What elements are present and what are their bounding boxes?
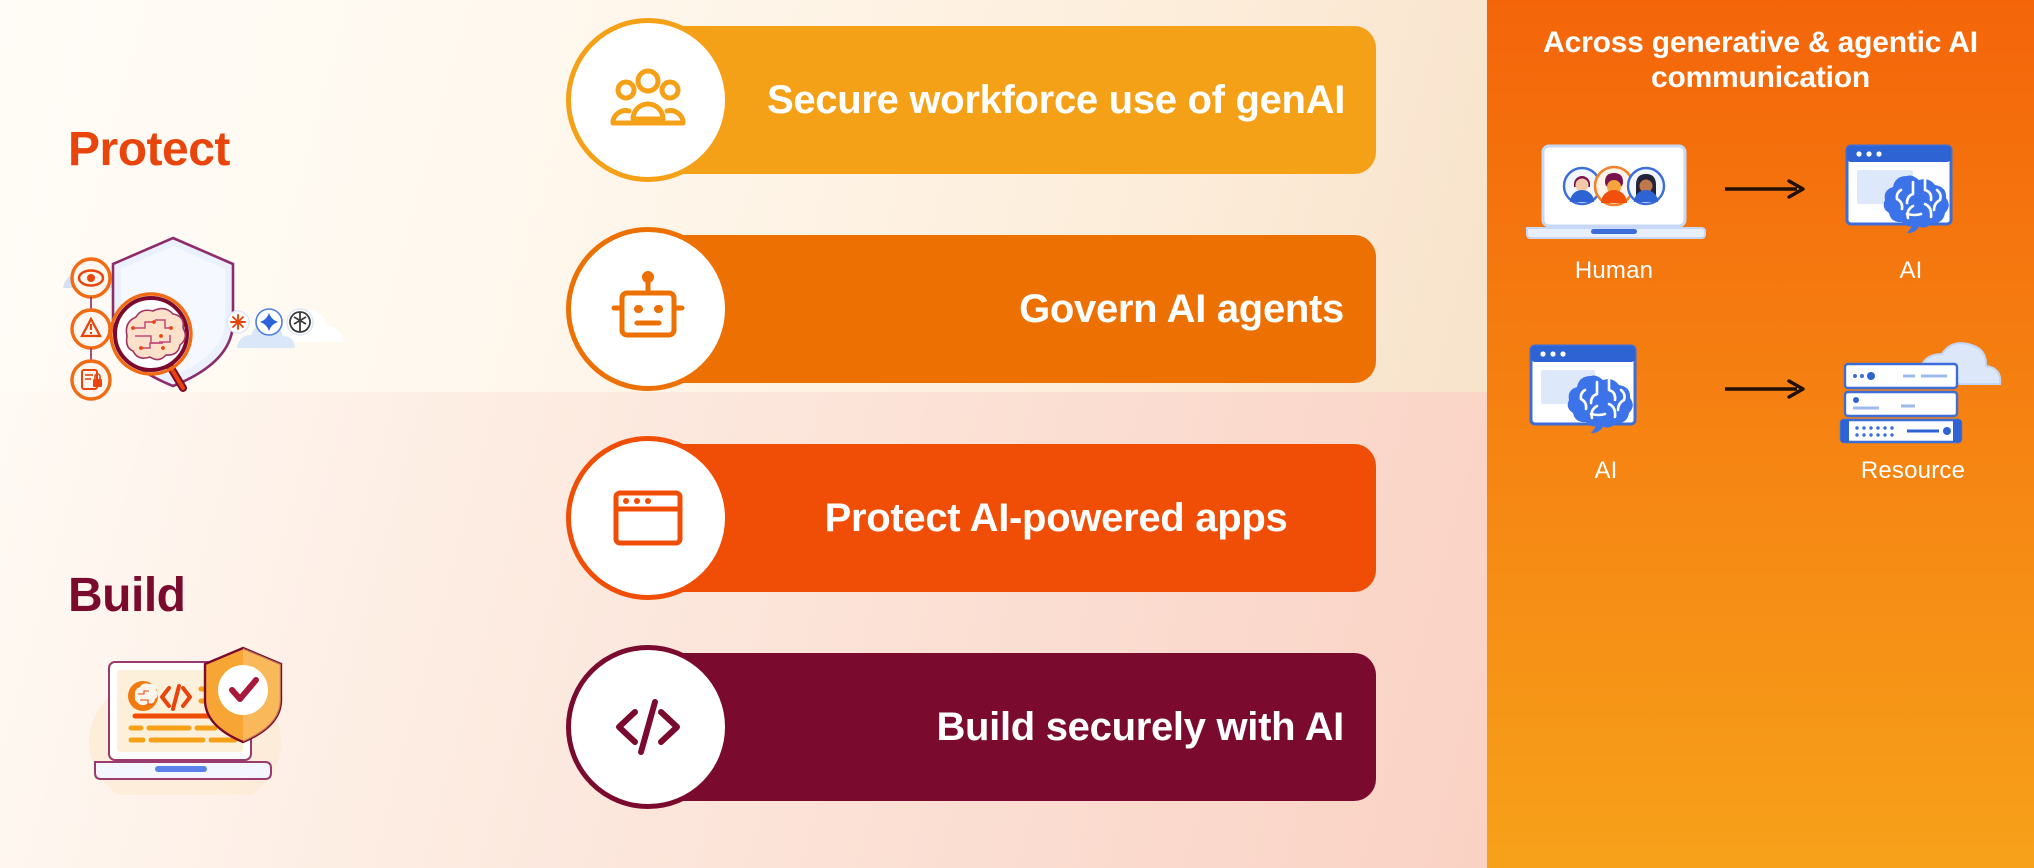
pill-list: Secure workforce use of genAI: [566, 18, 1376, 856]
robot-icon: [609, 270, 687, 348]
people-group-icon: [609, 61, 687, 139]
pill-icon-badge: [566, 18, 730, 182]
warning-triangle-icon: [72, 310, 110, 348]
pill-row-secure-workforce[interactable]: Secure workforce use of genAI: [566, 18, 1376, 182]
section-heading-build: Build: [68, 568, 185, 623]
pill-row-build-securely[interactable]: Build securely with AI: [566, 645, 1376, 809]
flow-node-label: AI: [1511, 457, 1701, 485]
laptop-with-avatars-icon: [1519, 140, 1709, 244]
gemini-logo-icon: [256, 309, 282, 335]
flow-node-resource: Resource: [1823, 340, 2003, 485]
flow-node-ai: AI: [1511, 340, 1701, 485]
eye-icon: [72, 259, 110, 297]
code-brackets-icon: [609, 688, 687, 766]
arrow-right-icon: [1723, 174, 1809, 204]
shield-magnifier-brain-illustration: [55, 230, 355, 410]
flow-node-human: Human: [1519, 140, 1709, 285]
arrow-right-icon: [1723, 374, 1809, 404]
flow-node-label: AI: [1821, 257, 2001, 285]
pill-label: Protect AI-powered apps: [825, 496, 1288, 541]
pill-row-govern-ai-agents[interactable]: Govern AI agents: [566, 227, 1376, 391]
flow-node-label: Resource: [1823, 457, 2003, 485]
browser-brain-icon: [1821, 140, 2001, 244]
section-heading-protect: Protect: [68, 122, 230, 177]
claude-logo-icon: [227, 311, 249, 333]
server-unit: [1841, 420, 1961, 442]
server-unit: [1845, 364, 1957, 388]
pill-icon-badge: [566, 227, 730, 391]
browser-brain-icon: [1511, 340, 1701, 444]
server-cloud-icon: [1823, 340, 2003, 444]
pill-row-protect-ai-apps[interactable]: Protect AI-powered apps: [566, 436, 1376, 600]
flow-row-ai-to-resource: AI: [1487, 340, 2034, 480]
pill-label: Build securely with AI: [936, 705, 1344, 750]
pill-icon-badge: [566, 645, 730, 809]
flow-node-ai: AI: [1821, 140, 2001, 285]
flow-row-human-to-ai: Human: [1487, 140, 2034, 280]
right-panel-title: Across generative & agentic AI communica…: [1487, 26, 2034, 96]
infographic-canvas: Protect Build: [0, 0, 2034, 868]
pill-label: Secure workforce use of genAI: [767, 78, 1345, 123]
browser-window-icon: [609, 479, 687, 557]
flow-node-label: Human: [1519, 257, 1709, 285]
pill-label: Govern AI agents: [1019, 287, 1344, 332]
server-unit: [1845, 392, 1957, 416]
openai-logo-icon: [287, 309, 313, 335]
avatar: [1628, 168, 1664, 204]
document-lock-icon: [72, 361, 110, 399]
laptop-code-shield-illustration: [85, 630, 305, 800]
right-orange-panel: Across generative & agentic AI communica…: [1487, 0, 2034, 868]
pill-icon-badge: [566, 436, 730, 600]
